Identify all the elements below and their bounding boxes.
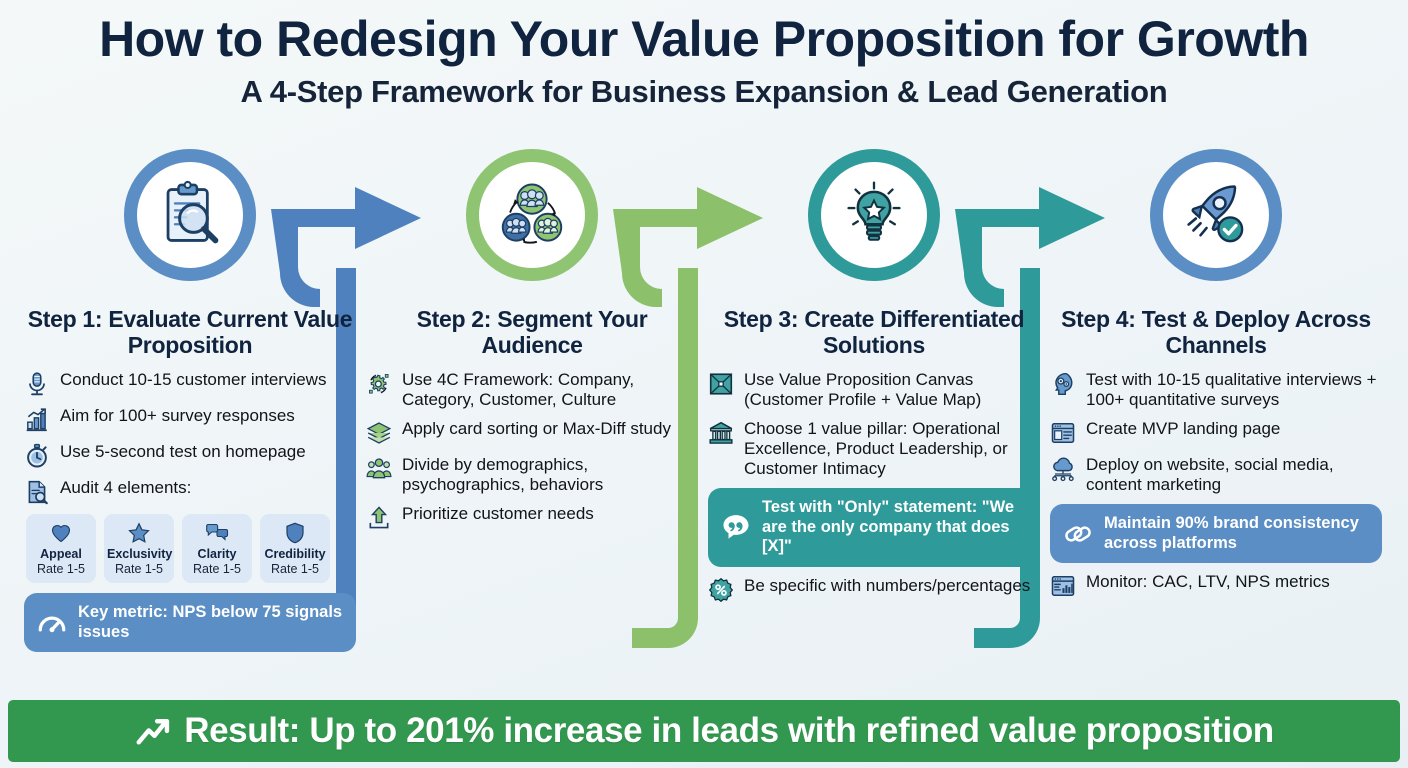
- gauge-icon: [37, 608, 67, 638]
- list-item-label: Conduct 10-15 customer interviews: [60, 370, 326, 390]
- list-item: Divide by demographics, psychographics, …: [366, 455, 698, 495]
- step-4-circle: [1150, 149, 1282, 281]
- audit-card-clarity[interactable]: Clarity Rate 1-5: [182, 514, 252, 583]
- microphone-icon: [24, 371, 50, 397]
- list-item-label: Create MVP landing page: [1086, 419, 1280, 439]
- head-gears-icon: [1050, 371, 1076, 397]
- rocket-check-icon: [1178, 177, 1254, 253]
- list-item-label: Use 4C Framework: Company, Category, Cus…: [402, 370, 698, 410]
- percent-seal-icon: [708, 577, 734, 603]
- stopwatch-icon: [24, 443, 50, 469]
- step-4-circle-wrap: [1046, 140, 1386, 290]
- audit-card-name: Credibility: [263, 548, 327, 562]
- list-item: Monitor: CAC, LTV, NPS metrics: [1050, 572, 1382, 599]
- list-item-label: Use Value Proposition Canvas (Customer P…: [744, 370, 1040, 410]
- step-3-only-statement-text: Test with "Only" statement: "We are the …: [762, 498, 1027, 556]
- step-4-brand-consistency-badge: Maintain 90% brand consistency across pl…: [1050, 504, 1382, 563]
- audience-segments-cycle-icon: [493, 176, 571, 254]
- list-item: Be specific with numbers/percentages: [708, 576, 1040, 603]
- pillar-bank-icon: [708, 420, 734, 446]
- lightbulb-star-icon: [837, 178, 911, 252]
- list-item-label: Monitor: CAC, LTV, NPS metrics: [1086, 572, 1330, 592]
- step-4-brand-consistency-text: Maintain 90% brand consistency across pl…: [1104, 514, 1369, 553]
- list-item: Create MVP landing page: [1050, 419, 1382, 446]
- step-1-title: Step 1: Evaluate Current Value Propositi…: [20, 306, 360, 358]
- stacked-layers-icon: [366, 420, 392, 446]
- list-item: Prioritize customer needs: [366, 504, 698, 531]
- list-item: Audit 4 elements:: [24, 478, 356, 505]
- audit-card-credibility[interactable]: Credibility Rate 1-5: [260, 514, 330, 583]
- list-item-label: Apply card sorting or Max-Diff study: [402, 419, 671, 439]
- link-chain-icon: [1063, 519, 1093, 549]
- list-item-label: Prioritize customer needs: [402, 504, 594, 524]
- step-1-circle: [124, 149, 256, 281]
- list-item-label: Be specific with numbers/percentages: [744, 576, 1030, 596]
- value-canvas-icon: [708, 371, 734, 397]
- list-item: Deploy on website, social media, content…: [1050, 455, 1382, 495]
- clipboard-magnifier-icon: [153, 178, 227, 252]
- quote-bubble-icon: [721, 512, 751, 542]
- step-1-column: Step 1: Evaluate Current Value Propositi…: [20, 140, 360, 661]
- list-item-label: Use 5-second test on homepage: [60, 442, 306, 462]
- audit-card-appeal[interactable]: Appeal Rate 1-5: [26, 514, 96, 583]
- step-1-circle-wrap: [20, 140, 360, 290]
- list-item: Choose 1 value pillar: Operational Excel…: [708, 419, 1040, 479]
- step-1-key-metric-badge: Key metric: NPS below 75 signals issues: [24, 593, 356, 652]
- trend-up-icon: [134, 713, 172, 751]
- list-item-label: Divide by demographics, psychographics, …: [402, 455, 698, 495]
- list-item-label: Audit 4 elements:: [60, 478, 191, 498]
- audit-card-name: Exclusivity: [107, 548, 171, 562]
- speech-bubbles-icon: [205, 521, 229, 545]
- list-item: Aim for 100+ survey responses: [24, 406, 356, 433]
- list-item: Use 5-second test on homepage: [24, 442, 356, 469]
- gear-cycle-icon: [366, 371, 392, 397]
- list-item-label: Aim for 100+ survey responses: [60, 406, 295, 426]
- browser-window-icon: [1050, 420, 1076, 446]
- list-item-label: Choose 1 value pillar: Operational Excel…: [744, 419, 1040, 479]
- people-group-icon: [366, 456, 392, 482]
- step-3-circle: [808, 149, 940, 281]
- result-banner-text: Result: Up to 201% increase in leads wit…: [184, 711, 1274, 751]
- step-1-key-metric-text: Key metric: NPS below 75 signals issues: [78, 603, 343, 642]
- bar-chart-growth-icon: [24, 407, 50, 433]
- audit-card-rating: Rate 1-5: [263, 562, 327, 576]
- heart-icon: [49, 521, 73, 545]
- cloud-deploy-icon: [1050, 456, 1076, 482]
- audit-card-rating: Rate 1-5: [185, 562, 249, 576]
- step-2-circle-wrap: [362, 140, 702, 290]
- audit-card-exclusivity[interactable]: Exclusivity Rate 1-5: [104, 514, 174, 583]
- infographic-canvas: How to Redesign Your Value Proposition f…: [0, 0, 1408, 768]
- star-icon: [127, 521, 151, 545]
- result-banner: Result: Up to 201% increase in leads wit…: [8, 700, 1400, 762]
- steps-container: Step 1: Evaluate Current Value Propositi…: [0, 140, 1408, 685]
- document-audit-icon: [24, 479, 50, 505]
- step-3-only-statement-badge: Test with "Only" statement: "We are the …: [708, 488, 1040, 566]
- audit-card-rating: Rate 1-5: [29, 562, 93, 576]
- analytics-dashboard-icon: [1050, 573, 1076, 599]
- audit-card-name: Clarity: [185, 548, 249, 562]
- step-3-column: Step 3: Create Differentiated Solutions …: [704, 140, 1044, 612]
- list-item: Test with 10-15 qualitative interviews +…: [1050, 370, 1382, 410]
- audit-elements-row: Appeal Rate 1-5 Exclusivity Rate 1-5: [26, 514, 356, 583]
- step-4-title: Step 4: Test & Deploy Across Channels: [1046, 306, 1386, 358]
- list-item: Use 4C Framework: Company, Category, Cus…: [366, 370, 698, 410]
- shield-icon: [283, 521, 307, 545]
- list-item-label: Deploy on website, social media, content…: [1086, 455, 1382, 495]
- step-3-items: Use Value Proposition Canvas (Customer P…: [704, 370, 1044, 603]
- list-item: Use Value Proposition Canvas (Customer P…: [708, 370, 1040, 410]
- audit-card-name: Appeal: [29, 548, 93, 562]
- list-item: Conduct 10-15 customer interviews: [24, 370, 356, 397]
- step-1-items: Conduct 10-15 customer interviews Aim fo…: [20, 370, 360, 652]
- audit-card-rating: Rate 1-5: [107, 562, 171, 576]
- step-2-title: Step 2: Segment Your Audience: [362, 306, 702, 358]
- list-item-label: Test with 10-15 qualitative interviews +…: [1086, 370, 1382, 410]
- step-3-title: Step 3: Create Differentiated Solutions: [704, 306, 1044, 358]
- list-item: Apply card sorting or Max-Diff study: [366, 419, 698, 446]
- step-4-column: Step 4: Test & Deploy Across Channels Te…: [1046, 140, 1386, 608]
- step-4-items: Test with 10-15 qualitative interviews +…: [1046, 370, 1386, 599]
- step-2-circle: [466, 149, 598, 281]
- step-2-column: Step 2: Segment Your Audience Use 4C Fra…: [362, 140, 702, 540]
- up-arrow-tray-icon: [366, 505, 392, 531]
- step-3-circle-wrap: [704, 140, 1044, 290]
- step-2-items: Use 4C Framework: Company, Category, Cus…: [362, 370, 702, 531]
